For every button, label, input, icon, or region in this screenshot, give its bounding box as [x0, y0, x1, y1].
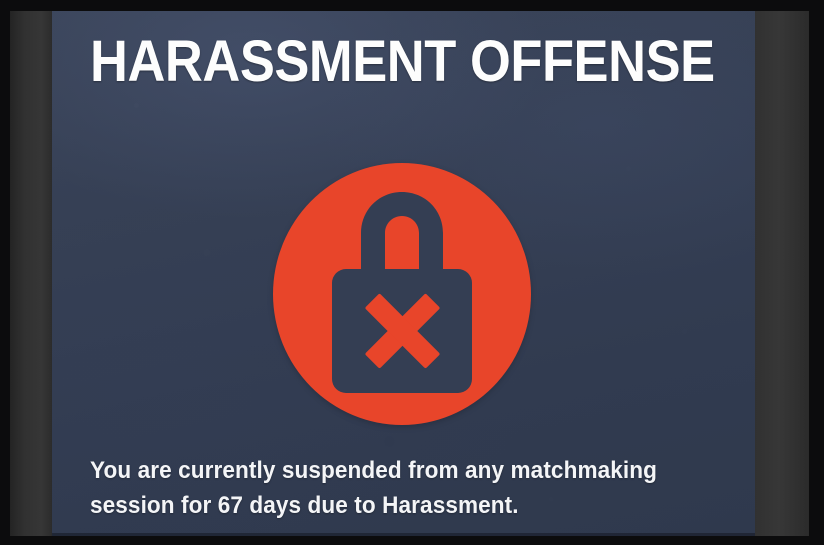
page-title: HARASSMENT OFFENSE — [90, 33, 669, 91]
screenshot-canvas: HARASSMENT OFFENSE You are currently sus… — [0, 0, 824, 545]
window-frame-left — [10, 11, 52, 536]
panel-bottom-edge — [52, 533, 755, 536]
window-frame-right — [755, 11, 809, 536]
suspension-message: You are currently suspended from any mat… — [90, 453, 684, 523]
suspension-notice-panel: HARASSMENT OFFENSE You are currently sus… — [52, 11, 755, 536]
locked-padlock-with-x-icon — [272, 163, 532, 425]
